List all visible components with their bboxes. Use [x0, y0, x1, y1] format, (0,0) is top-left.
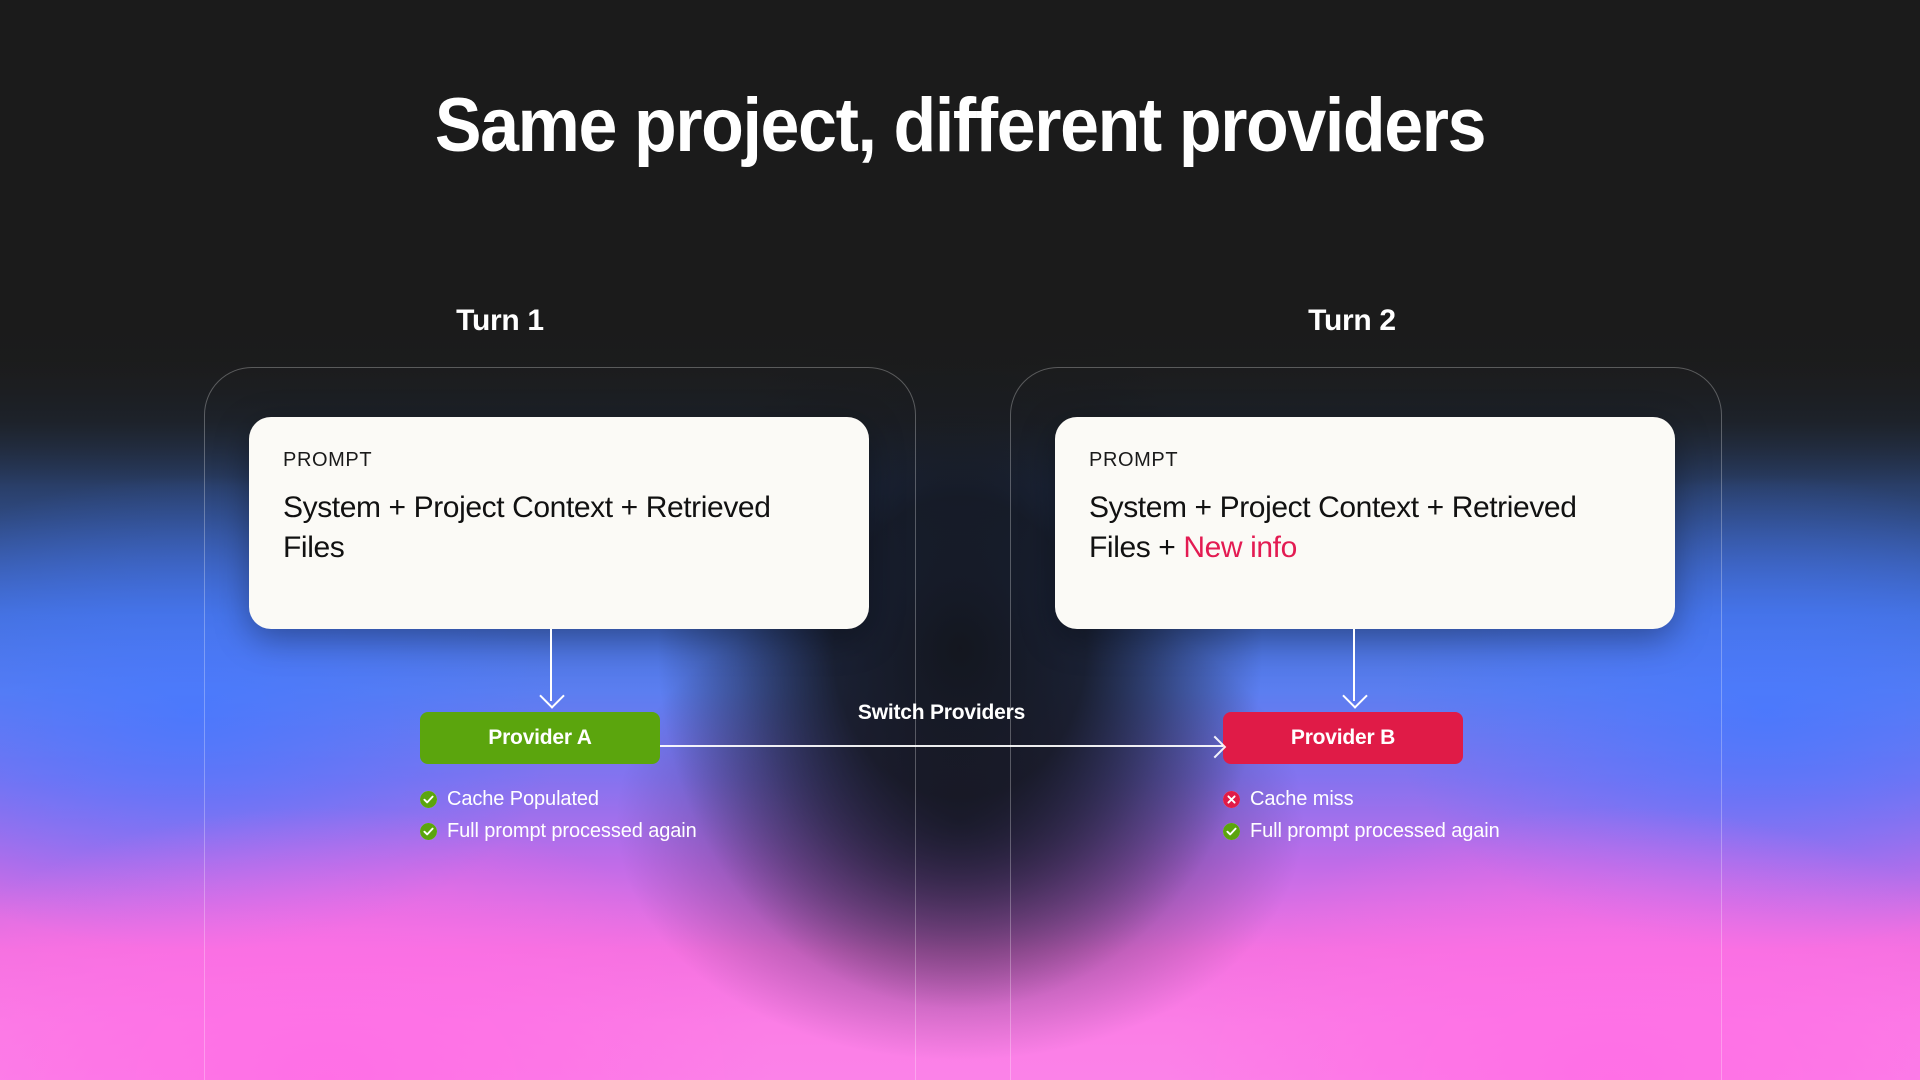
switch-providers-label: Switch Providers — [660, 701, 1223, 725]
slide-canvas: Same project, different providers Turn 1… — [0, 0, 1920, 1080]
prompt-body-text: System + Project Context + Retrieved Fil… — [283, 491, 771, 564]
status-text: Full prompt processed again — [1250, 820, 1500, 843]
page-title: Same project, different providers — [77, 88, 1843, 164]
arrow-head — [539, 683, 564, 708]
status-list-turn-1: Cache Populated Full prompt processed ag… — [420, 788, 697, 852]
arrow-right-switch-icon — [660, 736, 1223, 756]
check-circle-icon — [420, 791, 437, 808]
prompt-kicker: PROMPT — [1089, 449, 1641, 472]
provider-b-chip[interactable]: Provider B — [1223, 712, 1463, 764]
provider-b-label: Provider B — [1291, 726, 1395, 750]
prompt-card-turn-2: PROMPT System + Project Context + Retrie… — [1055, 417, 1675, 629]
prompt-body: System + Project Context + Retrieved Fil… — [1089, 488, 1641, 568]
status-item: Full prompt processed again — [420, 820, 697, 843]
provider-a-chip[interactable]: Provider A — [420, 712, 660, 764]
status-list-turn-2: Cache miss Full prompt processed again — [1223, 788, 1500, 852]
prompt-body: System + Project Context + Retrieved Fil… — [283, 488, 835, 568]
arrow-head — [1204, 736, 1227, 759]
arrow-head — [1342, 683, 1367, 708]
prompt-body-text: System + Project Context + Retrieved Fil… — [1089, 491, 1577, 564]
arrow-down-turn-1-icon — [537, 629, 565, 711]
status-text: Cache Populated — [447, 788, 599, 811]
arrow-shaft — [660, 745, 1223, 747]
arrow-down-turn-2-icon — [1340, 629, 1368, 711]
turn-1-label: Turn 1 — [360, 304, 640, 338]
x-circle-icon — [1223, 791, 1240, 808]
status-text: Cache miss — [1250, 788, 1353, 811]
turn-2-label: Turn 2 — [1212, 304, 1492, 338]
status-item: Cache miss — [1223, 788, 1500, 811]
check-circle-icon — [420, 823, 437, 840]
prompt-card-turn-1: PROMPT System + Project Context + Retrie… — [249, 417, 869, 629]
status-text: Full prompt processed again — [447, 820, 697, 843]
status-item: Cache Populated — [420, 788, 697, 811]
prompt-kicker: PROMPT — [283, 449, 835, 472]
status-item: Full prompt processed again — [1223, 820, 1500, 843]
provider-a-label: Provider A — [488, 726, 591, 750]
check-circle-icon — [1223, 823, 1240, 840]
prompt-body-highlight: New info — [1183, 531, 1297, 564]
